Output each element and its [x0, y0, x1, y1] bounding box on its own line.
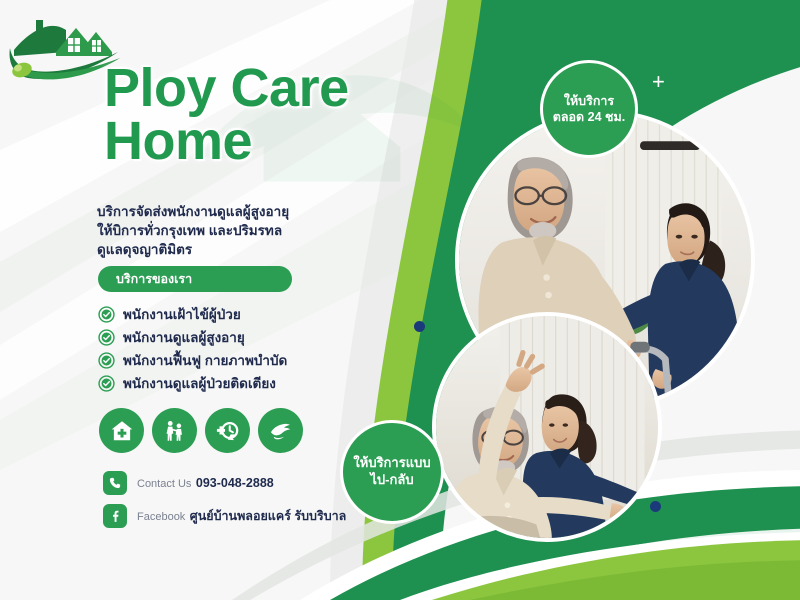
- contact-facebook-value: ศูนย์บ้านพลอยแคร์ รับบริบาล: [190, 509, 347, 523]
- facebook-icon: [103, 504, 127, 528]
- check-circle-icon: [98, 375, 115, 392]
- subtitle-line-3: ดูแลดุจญาติมิตร: [97, 240, 357, 259]
- home-medical-icon: [109, 418, 135, 444]
- subtitle-line-2: ให้บิการทั่วกรุงเทพ และปริมรทล: [97, 221, 357, 240]
- list-item-label: พนักงานดูแลผู้สูงอายุ: [123, 326, 245, 348]
- elderly-man-stretching-with-caregiver-photo: [432, 312, 662, 542]
- badge-roundtrip-line-2: ไป-กลับ: [370, 472, 413, 489]
- helping-hands-icon: [267, 417, 294, 444]
- service-icon-row: [99, 408, 303, 453]
- accent-dot: [650, 501, 661, 512]
- page-title: Ploy Care Home: [104, 62, 444, 169]
- our-services-button[interactable]: บริการของเรา: [98, 266, 292, 292]
- contact-facebook-row[interactable]: Facebook ศูนย์บ้านพลอยแคร์ รับบริบาล: [103, 504, 346, 528]
- check-circle-icon: [98, 352, 115, 369]
- list-item: พนักงานดูแลผู้ป่วยติดเตียง: [98, 372, 398, 394]
- badge-24h-line-1: ให้บริการ: [564, 93, 614, 109]
- badge-round-trip-service: ให้บริการแบบ ไป-กลับ: [340, 420, 444, 524]
- badge-roundtrip-line-1: ให้บริการแบบ: [353, 455, 430, 472]
- clock-24h-plus-icon-button[interactable]: [205, 408, 250, 453]
- contact-phone-value: 093-048-2888: [196, 476, 274, 490]
- list-item-label: พนักงานดูแลผู้ป่วยติดเตียง: [123, 372, 276, 394]
- contact-phone-row[interactable]: Contact Us 093-048-2888: [103, 471, 346, 495]
- list-item-label: พนักงานฟื้นฟู กายภาพบำบัด: [123, 349, 287, 371]
- caregiver-people-icon-button[interactable]: [152, 408, 197, 453]
- plus-decoration-icon: +: [652, 71, 665, 93]
- contact-phone-label: Contact Us: [137, 478, 191, 490]
- subtitle-line-1: บริการจัดส่งพนักงานดูแลผู้สูงอายุ: [97, 202, 357, 221]
- list-item: พนักงานฟื้นฟู กายภาพบำบัด: [98, 349, 398, 371]
- helping-hands-icon-button[interactable]: [258, 408, 303, 453]
- check-circle-icon: [98, 329, 115, 346]
- service-checklist: พนักงานเฝ้าไข้ผู้ป่วย พนักงานดูแลผู้สูงอ…: [98, 303, 398, 395]
- list-item-label: พนักงานเฝ้าไข้ผู้ป่วย: [123, 303, 241, 325]
- list-item: พนักงานดูแลผู้สูงอายุ: [98, 326, 398, 348]
- subtitle-text: บริการจัดส่งพนักงานดูแลผู้สูงอายุ ให้บิก…: [97, 202, 357, 259]
- contact-block: Contact Us 093-048-2888 Facebook ศูนย์บ้…: [103, 471, 346, 537]
- check-circle-icon: [98, 306, 115, 323]
- title-line-1: Ploy Care: [104, 58, 349, 118]
- accent-dot: [414, 321, 425, 332]
- contact-facebook-label: Facebook: [137, 511, 185, 523]
- badge-24h-line-2: ตลอด 24 ชม.: [553, 109, 625, 125]
- caregiver-people-icon: [162, 418, 188, 444]
- poster-canvas: Ploy Care Home บริการจัดส่งพนักงานดูแลผู…: [0, 0, 800, 600]
- list-item: พนักงานเฝ้าไข้ผู้ป่วย: [98, 303, 398, 325]
- badge-24-hour-service: ให้บริการ ตลอด 24 ชม.: [540, 60, 638, 158]
- clock-24h-plus-icon: [214, 417, 241, 444]
- phone-icon: [103, 471, 127, 495]
- title-line-2: Home: [104, 115, 444, 168]
- home-medical-icon-button[interactable]: [99, 408, 144, 453]
